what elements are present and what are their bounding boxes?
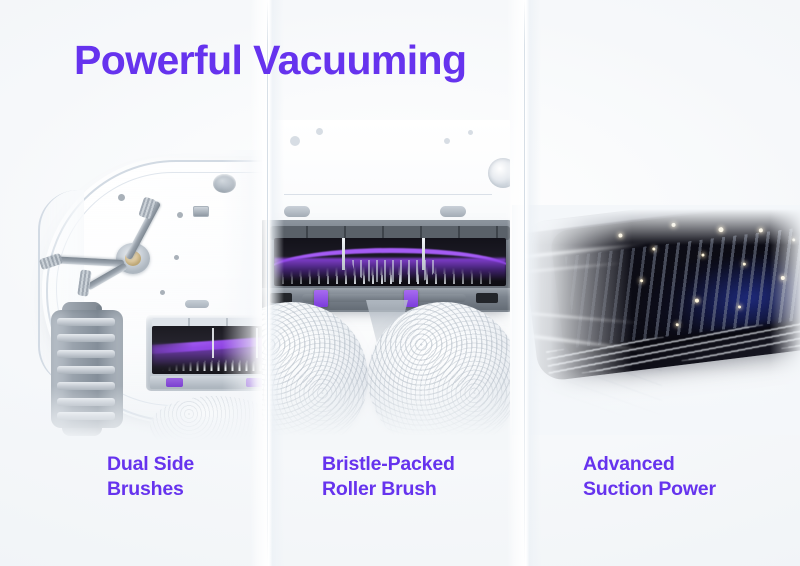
panel-caption-advanced-suction-power: Advanced Suction Power xyxy=(583,452,716,502)
chassis-dot xyxy=(290,136,300,146)
chassis-dot xyxy=(316,128,323,135)
panel-caption-dual-side-brushes: Dual Side Brushes xyxy=(107,452,194,502)
chassis-dot xyxy=(468,130,473,135)
chassis-clip xyxy=(193,206,209,217)
chassis-dot xyxy=(174,255,179,260)
chassis-pad xyxy=(284,206,310,217)
panel-bottom-fade xyxy=(262,380,510,450)
panel-image-advanced-suction-power xyxy=(512,205,800,435)
chassis-dot xyxy=(177,212,183,218)
panel-bottom-fade xyxy=(512,369,800,435)
panel-image-dual-side-brushes xyxy=(0,150,262,450)
panel-bottom-fade xyxy=(0,386,262,450)
chassis-port xyxy=(488,158,510,188)
page-title: Powerful Vacuuming xyxy=(74,40,466,81)
panel-top-fade xyxy=(512,205,800,245)
roller-brush-recess xyxy=(274,238,506,286)
panel-image-bristle-packed-roller-brush xyxy=(262,120,510,450)
chassis-pad xyxy=(440,206,466,217)
chassis-dot xyxy=(118,194,125,201)
chassis-seam xyxy=(284,194,492,195)
panel-right-fade xyxy=(770,205,800,435)
promo-banner: Powerful Vacuuming Dual Side Brushes Bri… xyxy=(0,0,800,566)
chassis-slot xyxy=(185,300,209,308)
chassis-dot xyxy=(444,138,450,144)
chassis-dot xyxy=(160,290,165,295)
panel-caption-bristle-packed-roller-brush: Bristle-Packed Roller Brush xyxy=(322,452,455,502)
